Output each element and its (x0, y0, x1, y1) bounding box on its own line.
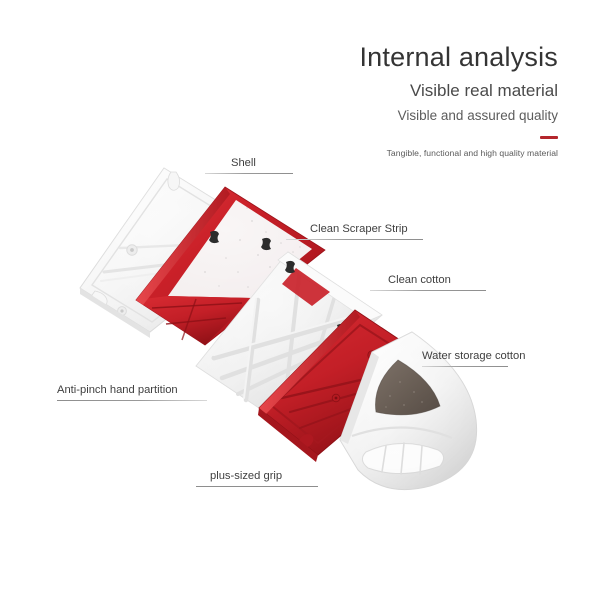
page-title: Internal analysis (359, 40, 558, 74)
callout-anti-pinch-hand-partition: Anti-pinch hand partition (57, 383, 207, 401)
callout-clean-scraper-strip: Clean Scraper Strip (286, 222, 423, 240)
header-subtitle-1: Visible real material (359, 78, 558, 104)
callout-clean-cotton-leader (370, 290, 486, 291)
callout-shell-label: Shell (231, 156, 293, 170)
callout-shell-leader (205, 173, 293, 174)
callout-water-storage-cotton: Water storage cotton (422, 349, 562, 367)
callout-clean-scraper-strip-label: Clean Scraper Strip (310, 222, 423, 236)
callout-clean-cotton-label: Clean cotton (388, 273, 486, 287)
accent-rule (540, 136, 558, 139)
callout-clean-scraper-strip-leader (286, 239, 423, 240)
infographic-canvas: Internal analysis Visible real material … (0, 0, 600, 600)
callout-water-storage-cotton-leader (422, 366, 508, 367)
header-tagline: Tangible, functional and high quality ma… (359, 146, 558, 160)
callout-clean-cotton: Clean cotton (370, 273, 486, 291)
header-block: Internal analysis Visible real material … (359, 40, 558, 160)
callout-plus-sized-grip-label: plus-sized grip (210, 469, 318, 483)
callout-anti-pinch-hand-partition-label: Anti-pinch hand partition (57, 383, 207, 397)
callout-plus-sized-grip-leader (196, 486, 318, 487)
header-subtitle-2: Visible and assured quality (359, 105, 558, 127)
callout-water-storage-cotton-label: Water storage cotton (422, 349, 562, 363)
callout-anti-pinch-hand-partition-leader (57, 400, 207, 401)
callout-shell: Shell (205, 156, 293, 174)
callout-plus-sized-grip: plus-sized grip (196, 469, 318, 487)
